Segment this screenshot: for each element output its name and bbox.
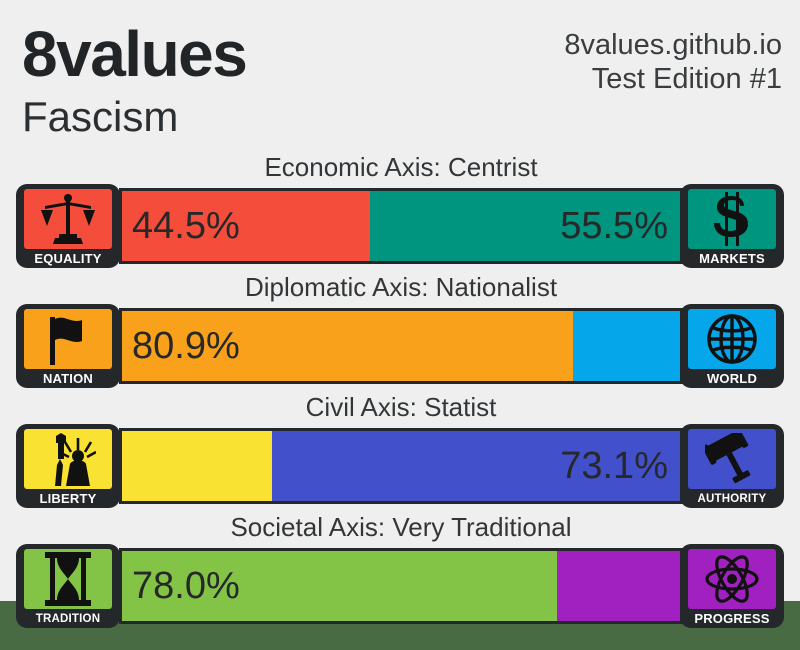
axis-label-right-economic: MARKETS (699, 249, 765, 268)
axis-icon-box-authority: AUTHORITY (680, 424, 784, 508)
axis-value-right-economic: 55.5% (560, 207, 668, 245)
axis-row-societal: Societal Axis: Very Traditional TRADITIO… (0, 510, 800, 630)
page-header: 8values Fascism 8values.github.io Test E… (0, 0, 800, 150)
hourglass-icon (24, 549, 112, 609)
statue-of-liberty-icon (24, 429, 112, 489)
axis-label-right-diplomatic: WORLD (707, 369, 757, 388)
axis-label-left-diplomatic: NATION (43, 369, 93, 388)
axis-icon-box-tradition: TRADITION (16, 544, 120, 628)
axis-segment-right-diplomatic: 19.1% (573, 311, 680, 381)
ideology-label: Fascism (22, 96, 178, 138)
axis-bar-diplomatic: 80.9% 19.1% (119, 308, 683, 384)
axis-icon-box-equality: EQUALITY (16, 184, 120, 268)
axis-value-left-societal: 78.0% (132, 567, 240, 605)
axis-icon-box-markets: MARKETS (680, 184, 784, 268)
axis-label-right-civil: AUTHORITY (698, 489, 767, 508)
axis-label-left-societal: TRADITION (36, 609, 100, 628)
axis-title-diplomatic: Diplomatic Axis: Nationalist (120, 270, 682, 304)
axis-icon-box-world: WORLD (680, 304, 784, 388)
axis-row-diplomatic: Diplomatic Axis: Nationalist NATION 80.9… (0, 270, 800, 390)
results-page: 8values Fascism 8values.github.io Test E… (0, 0, 800, 650)
site-meta: 8values.github.io Test Edition #1 (564, 28, 782, 96)
axis-icon-box-liberty: LIBERTY (16, 424, 120, 508)
axis-label-left-civil: LIBERTY (39, 489, 96, 508)
test-edition: Test Edition #1 (564, 62, 782, 96)
axis-label-right-societal: PROGRESS (694, 609, 769, 628)
axis-bar-societal: 78.0% 22.0% (119, 548, 683, 624)
axis-label-left-economic: EQUALITY (34, 249, 101, 268)
axis-icon-box-progress: PROGRESS (680, 544, 784, 628)
site-url: 8values.github.io (564, 28, 782, 62)
axis-segment-right-economic: 55.5% (370, 191, 680, 261)
axis-segment-left-economic: 44.5% (122, 191, 370, 261)
axis-value-left-diplomatic: 80.9% (132, 327, 240, 365)
axis-row-economic: Economic Axis: Centrist EQUALITY 44.5% 5… (0, 150, 800, 270)
axis-bar-economic: 44.5% 55.5% (119, 188, 683, 264)
axis-bar-civil: 26.9% 73.1% (119, 428, 683, 504)
axis-segment-left-societal: 78.0% (122, 551, 557, 621)
dollar-icon (688, 189, 776, 249)
scales-icon (24, 189, 112, 249)
axis-row-civil: Civil Axis: Statist LIBERTY 26.9% 73.1% (0, 390, 800, 510)
flag-icon (24, 309, 112, 369)
axis-value-right-civil: 73.1% (560, 447, 668, 485)
axis-title-civil: Civil Axis: Statist (120, 390, 682, 424)
brand-title: 8values (22, 22, 246, 86)
axis-segment-right-civil: 73.1% (272, 431, 680, 501)
globe-icon (688, 309, 776, 369)
axis-value-left-economic: 44.5% (132, 207, 240, 245)
gavel-icon (688, 429, 776, 489)
axis-segment-left-civil: 26.9% (122, 431, 272, 501)
axis-icon-box-nation: NATION (16, 304, 120, 388)
atom-icon (688, 549, 776, 609)
axis-title-economic: Economic Axis: Centrist (120, 150, 682, 184)
axis-title-societal: Societal Axis: Very Traditional (120, 510, 682, 544)
axis-segment-right-societal: 22.0% (557, 551, 680, 621)
axis-segment-left-diplomatic: 80.9% (122, 311, 573, 381)
